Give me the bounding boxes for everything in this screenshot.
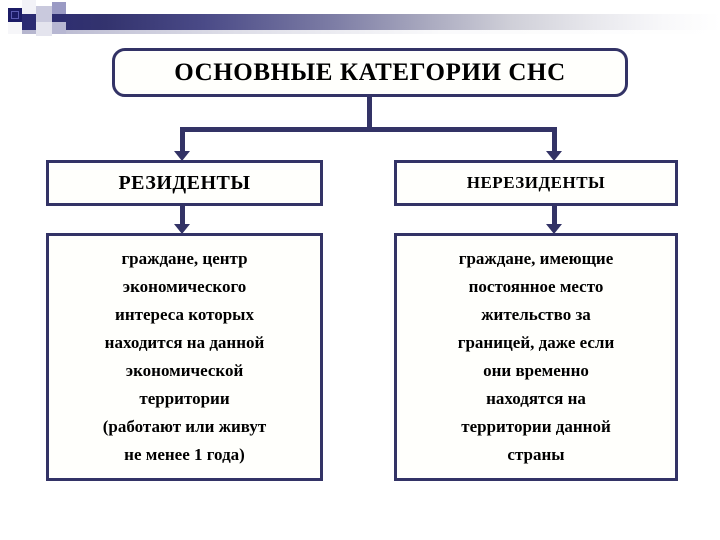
branch-body-residents-text: граждане, центр экономического интереса …	[53, 245, 316, 469]
branch-body-nonresidents-text: граждане, имеющие постоянное место жител…	[401, 245, 671, 469]
decor-square-light-d	[52, 22, 66, 34]
decor-square-light-b	[36, 6, 52, 22]
connector-drop-right	[552, 127, 557, 153]
connector-midline-left	[180, 206, 185, 226]
slide-canvas: ОСНОВНЫЕ КАТЕГОРИИ СНС РЕЗИДЕНТЫ НЕРЕЗИД…	[0, 0, 720, 540]
connector-midline-right	[552, 206, 557, 226]
branch-heading-nonresidents: НЕРЕЗИДЕНТЫ	[394, 160, 678, 206]
decor-square-light-a	[22, 0, 36, 14]
connector-drop-left	[180, 127, 185, 153]
decor-square-light-e	[52, 2, 66, 14]
branch-heading-residents: РЕЗИДЕНТЫ	[46, 160, 323, 206]
branch-body-nonresidents: граждане, имеющие постоянное место жител…	[394, 233, 678, 481]
connector-horizontal-bar	[180, 127, 557, 132]
branch-heading-nonresidents-label: НЕРЕЗИДЕНТЫ	[467, 173, 605, 193]
header-gradient-bar	[22, 14, 720, 30]
connector-title-stem	[367, 97, 372, 130]
diagram-title-box: ОСНОВНЫЕ КАТЕГОРИИ СНС	[112, 48, 628, 97]
header-gradient-shadow	[22, 30, 720, 34]
diagram-title-text: ОСНОВНЫЕ КАТЕГОРИИ СНС	[174, 59, 566, 87]
decor-square-light-f	[8, 22, 22, 34]
branch-heading-residents-label: РЕЗИДЕНТЫ	[118, 172, 250, 195]
branch-body-residents: граждане, центр экономического интереса …	[46, 233, 323, 481]
decor-square-light-c	[36, 22, 52, 36]
decor-square-accent	[8, 8, 22, 22]
